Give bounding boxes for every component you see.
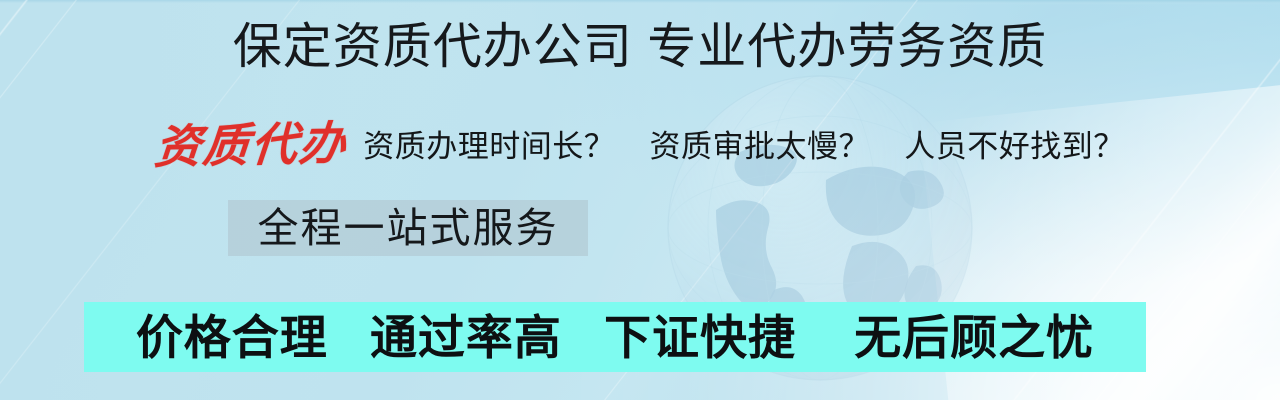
benefit-item-3: 下证快捷 (604, 311, 796, 364)
service-badge: 全程一站式服务 (228, 200, 588, 256)
question-item-3: 人员不好找到？ (904, 129, 1125, 164)
brush-calligraphy-label: 资质代办 (153, 121, 349, 171)
background-top-edge-line (0, 0, 1280, 5)
benefit-item-1: 价格合理 (136, 311, 328, 364)
service-badge-label: 全程一站式服务 (258, 208, 559, 249)
benefit-item-2: 通过率高 (370, 311, 562, 364)
question-item-1: 资质办理时间长？ (363, 129, 615, 164)
benefits-bar: 价格合理 通过率高 下证快捷 无后顾之忧 (84, 302, 1146, 372)
question-item-2: 资质审批太慢？ (650, 129, 871, 164)
benefit-item-4: 无后顾之忧 (854, 311, 1094, 364)
questions-row: 资质代办 资质办理时间长？ 资质审批太慢？ 人员不好找到？ (0, 112, 1280, 180)
pain-point-questions: 资质办理时间长？ 资质审批太慢？ 人员不好找到？ (363, 131, 1125, 162)
benefits-text: 价格合理 通过率高 下证快捷 无后顾之忧 (136, 314, 1094, 361)
promo-banner: 保定资质代办公司 专业代办劳务资质 资质代办 资质办理时间长？ 资质审批太慢？ … (0, 0, 1280, 400)
page-title: 保定资质代办公司 专业代办劳务资质 (0, 14, 1280, 80)
